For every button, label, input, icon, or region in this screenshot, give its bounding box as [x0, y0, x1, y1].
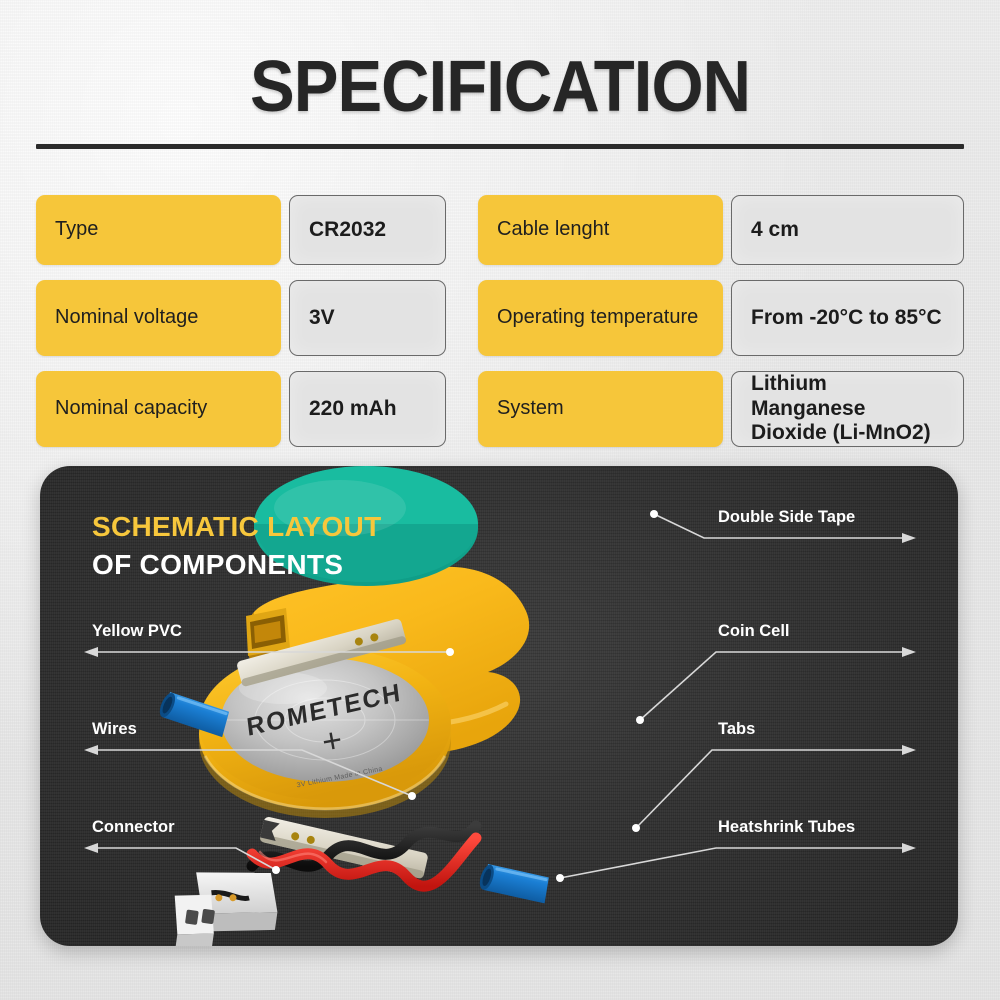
- spec-value: 220 mAh: [289, 371, 446, 447]
- spec-label: System: [478, 371, 723, 447]
- callout-heatshrink-tubes: Heatshrink Tubes: [718, 818, 855, 837]
- spec-label: Nominal voltage: [36, 280, 281, 356]
- schematic-panel: SCHEMATIC LAYOUT OF COMPONENTS: [40, 466, 958, 946]
- spec-row: Cable lenght 4 cm: [478, 195, 964, 265]
- callout-leader-lines: [40, 466, 958, 946]
- callout-tabs: Tabs: [718, 720, 755, 739]
- spec-row: Type CR2032: [36, 195, 446, 265]
- spec-label: Cable lenght: [478, 195, 723, 265]
- spec-value: 3V: [289, 280, 446, 356]
- spec-value: From -20°C to 85°C: [731, 280, 964, 356]
- spec-row: System Lithium Manganese Dioxide (Li-MnO…: [478, 371, 964, 447]
- spec-label: Operating temperature: [478, 280, 723, 356]
- spec-label: Type: [36, 195, 281, 265]
- spec-value: CR2032: [289, 195, 446, 265]
- spec-row: Nominal voltage 3V: [36, 280, 446, 356]
- spec-column-left: Type CR2032 Nominal voltage 3V Nominal c…: [36, 195, 446, 447]
- callout-yellow-pvc: Yellow PVC: [92, 622, 182, 641]
- callout-coin-cell: Coin Cell: [718, 622, 790, 641]
- infographic-page: SPECIFICATION Type CR2032 Nominal voltag…: [0, 0, 1000, 1000]
- spec-label: Nominal capacity: [36, 371, 281, 447]
- callout-wires: Wires: [92, 720, 137, 739]
- spec-row: Nominal capacity 220 mAh: [36, 371, 446, 447]
- spec-row: Operating temperature From -20°C to 85°C: [478, 280, 964, 356]
- callout-double-side-tape: Double Side Tape: [718, 508, 855, 527]
- title-divider: [36, 144, 964, 149]
- page-title: SPECIFICATION: [35, 46, 965, 128]
- spec-value: 4 cm: [731, 195, 964, 265]
- callout-connector: Connector: [92, 818, 175, 837]
- spec-value: Lithium Manganese Dioxide (Li-MnO2): [731, 371, 964, 447]
- spec-column-right: Cable lenght 4 cm Operating temperature …: [478, 195, 964, 447]
